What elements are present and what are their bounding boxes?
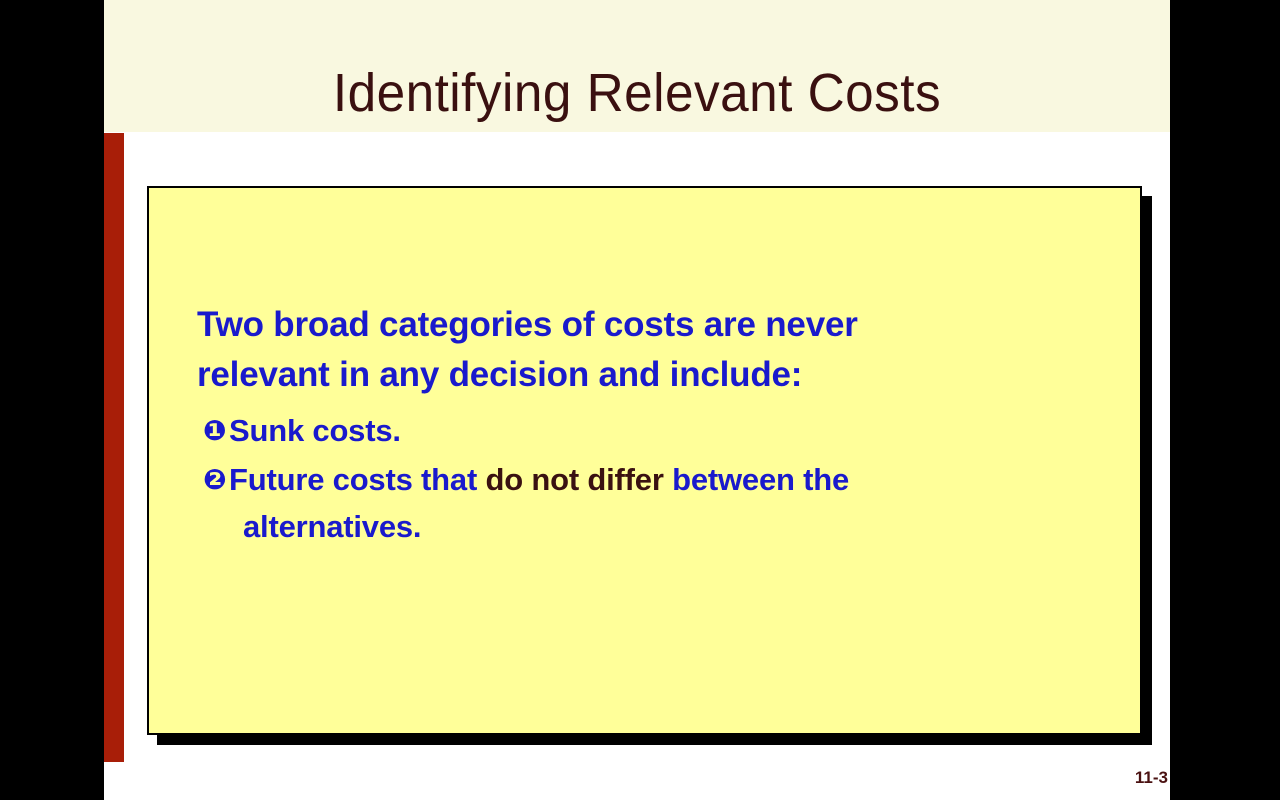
list-item-text-main: Future costs that: [229, 462, 485, 497]
list-item-text-tail: between the: [664, 462, 849, 497]
list-item-text-main: Sunk costs.: [229, 413, 401, 448]
lead-line-1: Two broad categories of costs are never: [197, 300, 1097, 350]
bullet-list: ❶ Sunk costs. ❷ Future costs that do not…: [197, 406, 1097, 549]
list-item: ❶ Sunk costs.: [197, 406, 1097, 455]
list-item-text-emphasis: do not differ: [485, 462, 663, 497]
circled-one-icon: ❶: [203, 406, 229, 455]
content-card: Two broad categories of costs are never …: [147, 186, 1142, 735]
list-item-continuation: alternatives.: [197, 504, 1097, 549]
circled-two-icon: ❷: [203, 455, 229, 504]
slide-root: Identifying Relevant Costs Two broad cat…: [0, 0, 1280, 800]
lead-line-2: relevant in any decision and include:: [197, 350, 1097, 400]
left-accent-bar: [104, 133, 124, 762]
list-item: ❷ Future costs that do not differ betwee…: [197, 455, 1097, 504]
page-number: 11-3: [1108, 768, 1168, 788]
page-title: Identifying Relevant Costs: [131, 0, 1144, 132]
list-item-text: Sunk costs.: [229, 406, 1097, 455]
list-item-text: Future costs that do not differ between …: [229, 455, 1097, 504]
content-card-text: Two broad categories of costs are never …: [197, 300, 1097, 549]
slide-title-band: Identifying Relevant Costs: [104, 0, 1170, 132]
